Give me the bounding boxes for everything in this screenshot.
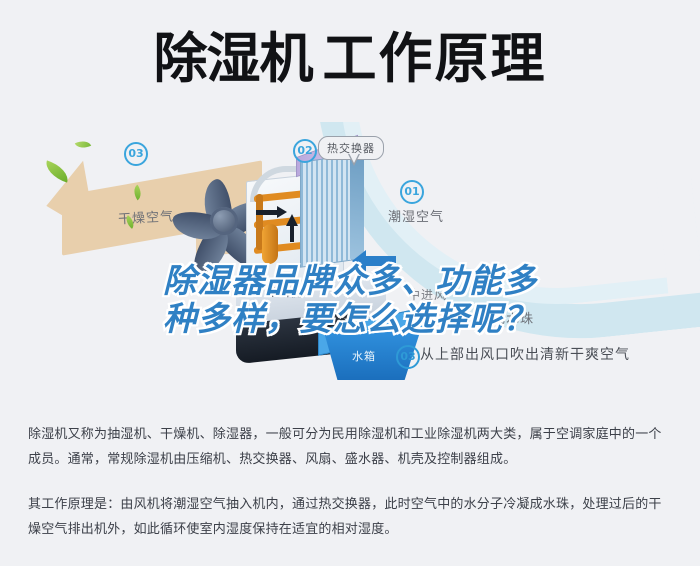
flow-arrow-up-shaft: [290, 226, 294, 242]
body-paragraph-1: 除湿机又称为抽湿机、干燥机、除湿器，一般可分为民用除湿机和工业除湿机两大类，属于…: [0, 412, 700, 472]
page-title-part1: 除湿机: [154, 27, 313, 90]
body-paragraph-2: 其工作原理是：由风机将潮湿空气抽入机内，通过热交换器，此时空气中的水分子冷凝成水…: [0, 472, 700, 542]
middle-intake-label: 中进风: [408, 286, 447, 303]
flow-arrow-up: [286, 214, 298, 226]
page-title-part2: 工作原理: [323, 27, 547, 90]
fan-hub: [210, 207, 238, 235]
article-body: 除湿机又称为抽湿机、干燥机、除湿器，一般可分为民用除湿机和工业除湿机两大类，属于…: [0, 412, 700, 566]
heat-exchanger-side: [350, 155, 364, 261]
header-banner: 除湿机工作原理: [0, 0, 700, 122]
water-tank-label: 水箱: [352, 348, 376, 364]
heat-exchanger-fins: [300, 154, 354, 268]
leaf-icon: [75, 137, 91, 151]
badge-03-top: 03: [124, 142, 148, 166]
step-3-description: 从上部出风口吹出清新干爽空气: [420, 344, 630, 364]
badge-03-bottom: 03: [396, 345, 420, 369]
compressor-cylinder: [262, 223, 278, 265]
page-title: 除湿机工作原理: [0, 24, 700, 94]
compressor-label: 压缩机: [266, 284, 302, 300]
badge-01: 01: [400, 180, 424, 204]
dry-air-arrow-head: [40, 161, 97, 243]
badge-02: 02: [293, 139, 317, 163]
dehumidifier-diagram: 干燥空气: [0, 122, 700, 410]
humid-air-label: 潮湿空气: [388, 206, 444, 225]
intake-arrow-shaft: [362, 256, 396, 266]
condense-label: 凝成水珠: [478, 308, 534, 327]
flow-arrow-right: [256, 210, 278, 215]
callout-tail-inner: [349, 153, 359, 163]
page-root: 除湿机工作原理 干燥空气: [0, 0, 700, 566]
intake-arrow-head: [352, 250, 366, 272]
